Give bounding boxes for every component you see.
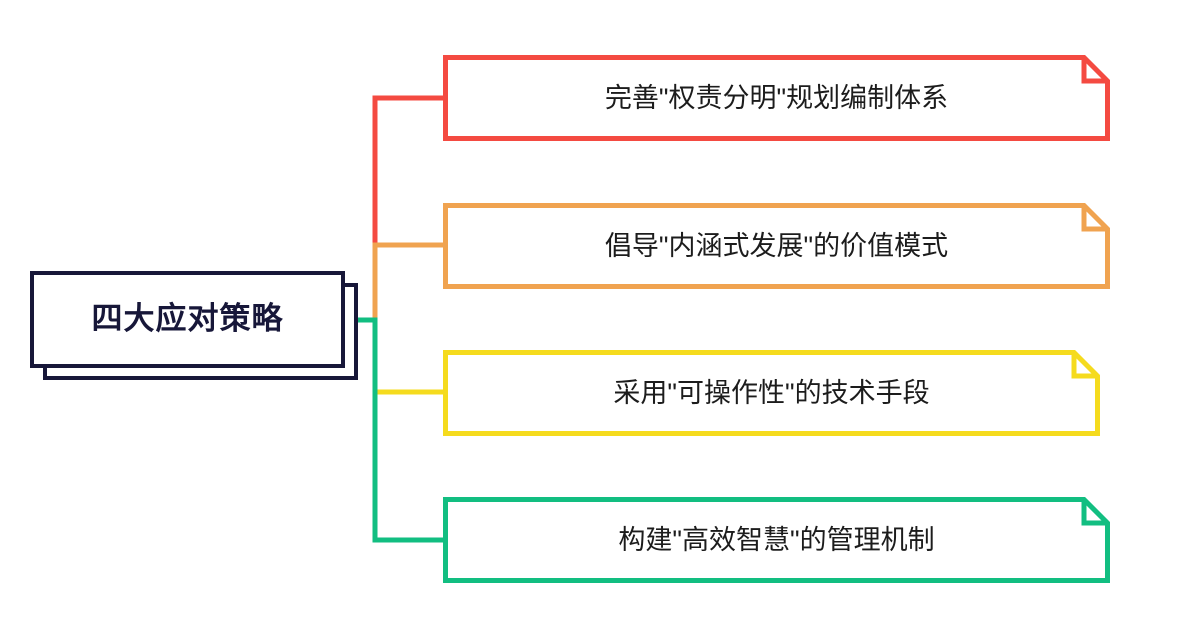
branch-node-3[interactable]: 采用"可操作性"的技术手段 <box>443 350 1100 436</box>
branch-2-label-wrap: 倡导"内涵式发展"的价值模式 <box>443 203 1110 289</box>
connector-branch-2 <box>375 245 443 320</box>
branch-2-label: 倡导"内涵式发展"的价值模式 <box>605 230 948 262</box>
branch-1-label: 完善"权责分明"规划编制体系 <box>605 82 948 114</box>
branch-3-label: 采用"可操作性"的技术手段 <box>613 377 929 409</box>
center-node-frontplate: 四大应对策略 <box>30 271 345 368</box>
branch-node-1[interactable]: 完善"权责分明"规划编制体系 <box>443 55 1110 141</box>
branch-node-2[interactable]: 倡导"内涵式发展"的价值模式 <box>443 203 1110 289</box>
branch-1-label-wrap: 完善"权责分明"规划编制体系 <box>443 55 1110 141</box>
branch-4-label-wrap: 构建"高效智慧"的管理机制 <box>443 497 1110 583</box>
connector-branch-3 <box>375 320 443 392</box>
mindmap-canvas: 四大应对策略 完善"权责分明"规划编制体系 倡导"内涵式发展"的价值模式 采用"… <box>0 0 1200 637</box>
connector-branch-1 <box>375 98 443 320</box>
center-node-label: 四大应对策略 <box>92 302 284 336</box>
connector-branch-4 <box>346 320 443 540</box>
branch-3-label-wrap: 采用"可操作性"的技术手段 <box>443 350 1100 436</box>
branch-node-4[interactable]: 构建"高效智慧"的管理机制 <box>443 497 1110 583</box>
center-node[interactable]: 四大应对策略 <box>30 271 345 368</box>
branch-4-label: 构建"高效智慧"的管理机制 <box>618 524 934 556</box>
